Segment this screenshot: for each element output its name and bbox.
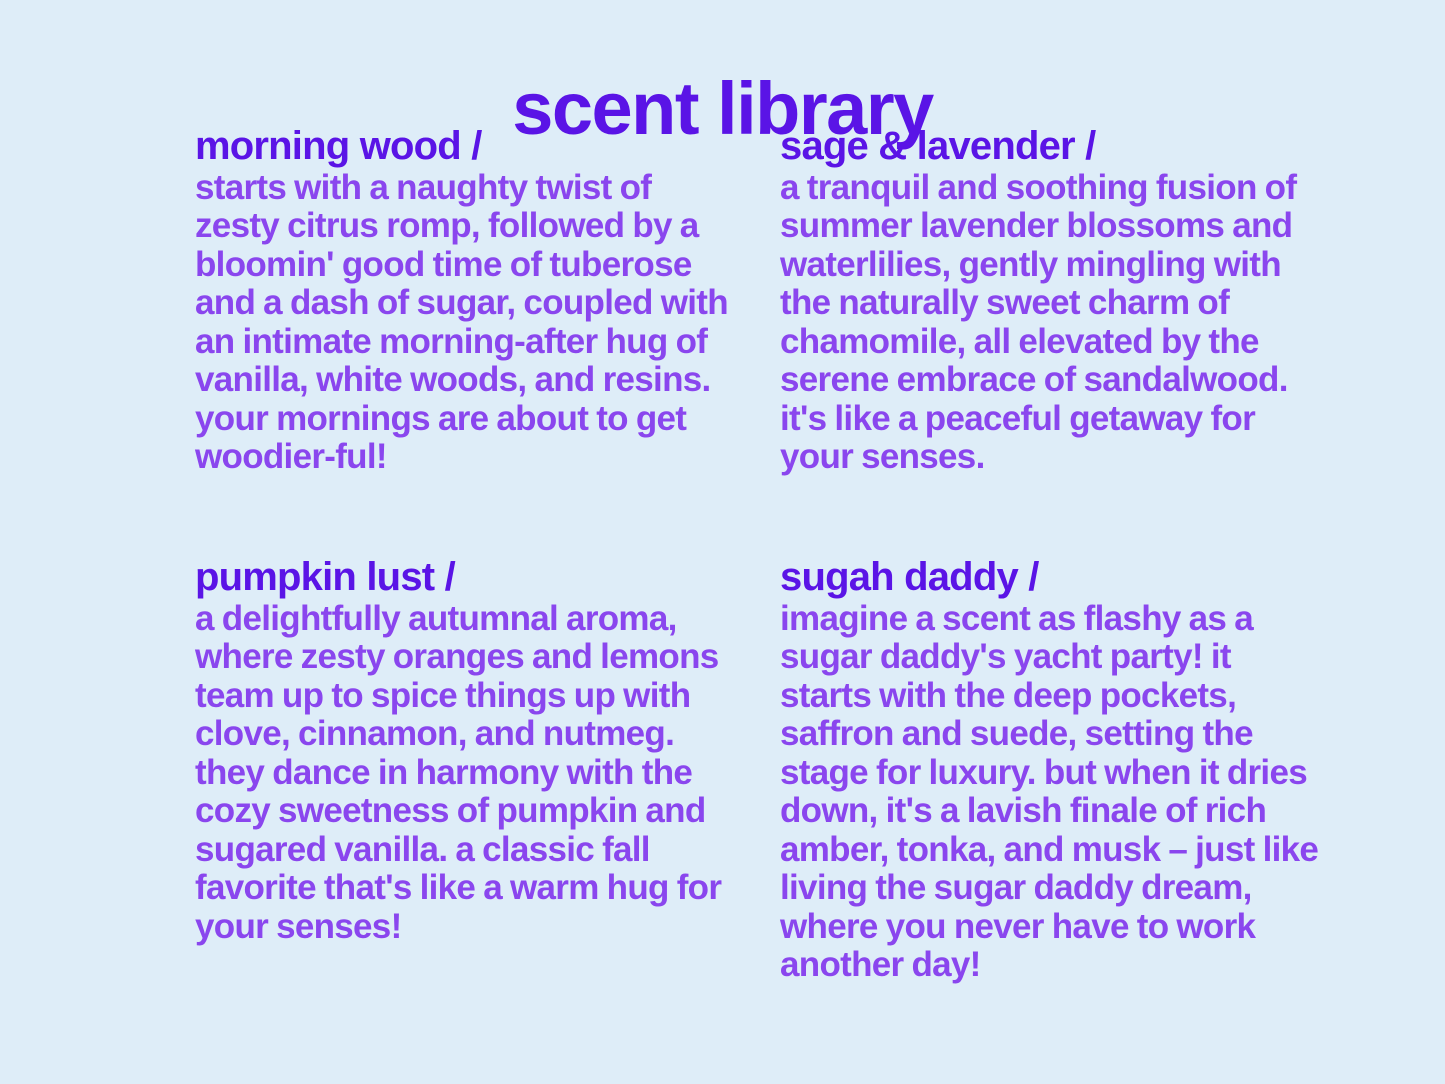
scent-description: a delightfully autumnal aroma, where zes… xyxy=(195,600,735,947)
scent-card-pumpkin-lust: pumpkin lust / a delightfully autumnal a… xyxy=(195,557,780,985)
scent-description: starts with a naughty twist of zesty cit… xyxy=(195,169,735,477)
scent-name: morning wood / xyxy=(195,126,780,167)
scent-description: a tranquil and soothing fusion of summer… xyxy=(780,169,1330,477)
scent-card-sage-and-lavender: sage & lavender / a tranquil and soothin… xyxy=(780,126,1330,477)
scent-card-morning-wood: morning wood / starts with a naughty twi… xyxy=(195,126,780,477)
scent-card-sugah-daddy: sugah daddy / imagine a scent as flashy … xyxy=(780,557,1330,985)
scent-library-page: scent library morning wood / starts with… xyxy=(0,0,1445,1084)
scent-name: sugah daddy / xyxy=(780,557,1330,598)
scent-grid: morning wood / starts with a naughty twi… xyxy=(195,126,1330,985)
scent-name: pumpkin lust / xyxy=(195,557,780,598)
scent-name: sage & lavender / xyxy=(780,126,1330,167)
scent-description: imagine a scent as flashy as a sugar dad… xyxy=(780,600,1320,985)
